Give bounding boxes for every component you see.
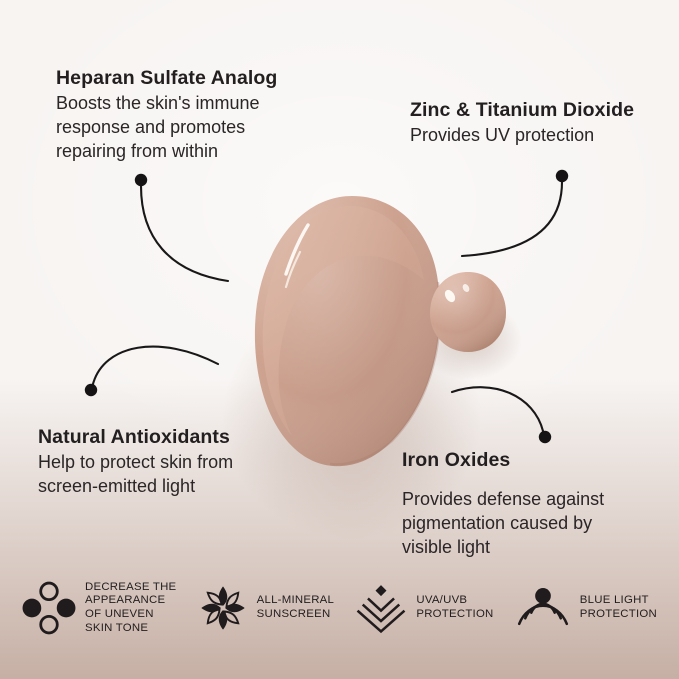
callout-iron-oxides: Iron Oxides Provides defense against pig… <box>402 448 604 560</box>
callout-title: Iron Oxides <box>402 448 604 472</box>
droplet-specular-highlight <box>443 288 457 304</box>
benefit-label: DECREASE THE APPEARANCE OF UNEVEN SKIN T… <box>85 581 176 636</box>
flower-petals-icon <box>198 583 248 633</box>
callout-natural-antioxidants: Natural Antioxidants Help to protect ski… <box>38 425 233 499</box>
benefit-decrease-uneven-skin-tone: DECREASE THE APPEARANCE OF UNEVEN SKIN T… <box>22 581 176 636</box>
foundation-swatch-blob <box>255 196 440 466</box>
callout-title: Heparan Sulfate Analog <box>56 66 277 90</box>
ingredient-infographic: Heparan Sulfate Analog Boosts the skin's… <box>0 0 679 679</box>
benefit-strip: DECREASE THE APPEARANCE OF UNEVEN SKIN T… <box>0 567 679 649</box>
benefit-blue-light-protection: BLUE LIGHT PROTECTION <box>515 580 657 636</box>
benefit-all-mineral-sunscreen: ALL-MINERAL SUNSCREEN <box>198 583 334 633</box>
chevron-rays-icon <box>355 582 407 634</box>
benefit-label: UVA/UVB PROTECTION <box>416 594 493 621</box>
blob-specular-highlight <box>286 225 308 274</box>
foundation-droplet <box>430 272 506 352</box>
radiating-waves-icon <box>515 580 571 636</box>
droplet-shadow <box>418 300 522 380</box>
callout-body: Provides defense against pigmentation ca… <box>402 488 604 560</box>
callout-body: Provides UV protection <box>410 124 634 148</box>
four-circles-icon <box>22 581 76 635</box>
connector-dots <box>85 170 568 443</box>
connector-dot-zinc <box>556 170 568 182</box>
connector-antioxidants <box>93 347 218 384</box>
callout-zinc-titanium-dioxide: Zinc & Titanium Dioxide Provides UV prot… <box>410 98 634 148</box>
benefit-label: ALL-MINERAL SUNSCREEN <box>257 594 334 621</box>
connector-dot-heparan <box>135 174 147 186</box>
callout-heparan-sulfate: Heparan Sulfate Analog Boosts the skin's… <box>56 66 277 164</box>
callout-body: Boosts the skin's immune response and pr… <box>56 92 277 164</box>
callout-title: Natural Antioxidants <box>38 425 233 449</box>
connector-zinc <box>462 182 562 256</box>
connector-lines <box>93 182 562 431</box>
callout-body: Help to protect skin from screen-emitted… <box>38 451 233 499</box>
connector-dot-iron <box>539 431 551 443</box>
benefit-uva-uvb-protection: UVA/UVB PROTECTION <box>355 582 493 634</box>
callout-title: Zinc & Titanium Dioxide <box>410 98 634 122</box>
connector-iron <box>452 387 543 431</box>
connector-dot-antioxidants <box>85 384 97 396</box>
benefit-label: BLUE LIGHT PROTECTION <box>580 594 657 621</box>
connector-heparan <box>141 186 228 281</box>
